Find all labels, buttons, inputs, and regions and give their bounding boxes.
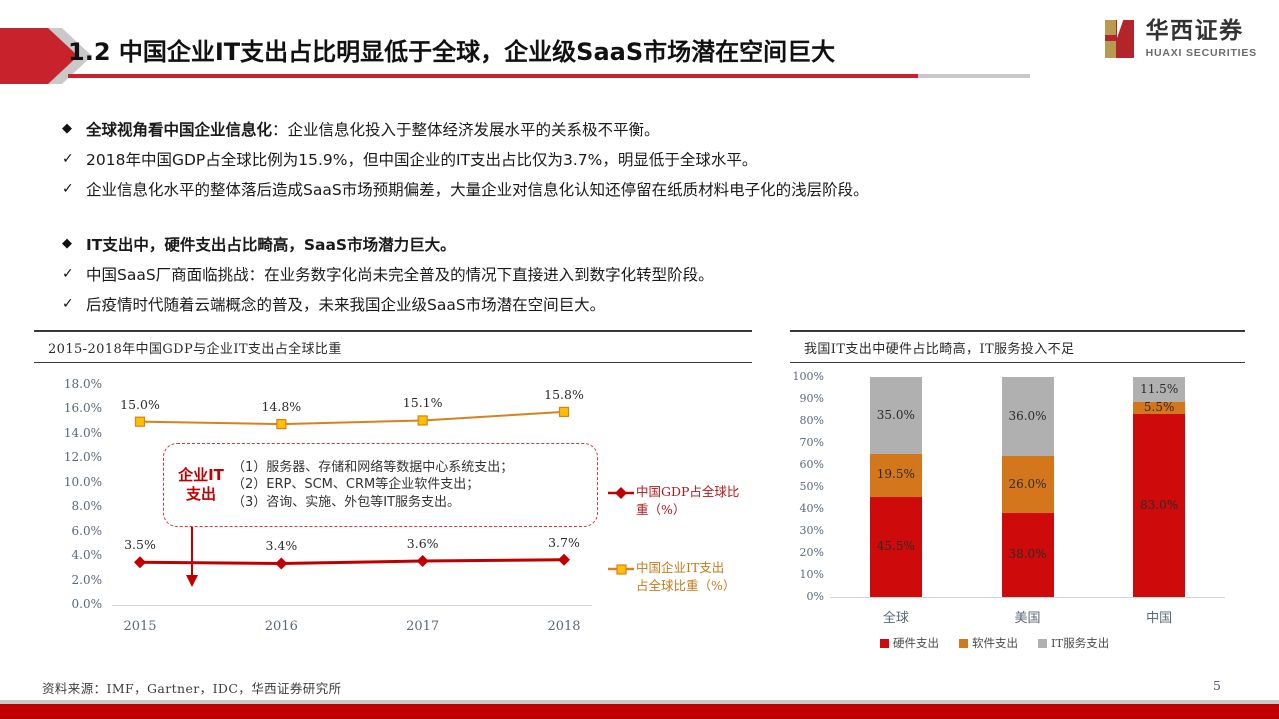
title-underline xyxy=(68,74,1030,78)
callout-arrow-icon xyxy=(180,527,204,589)
bullet-group-1-heading-strong: 全球视角看中国企业信息化 xyxy=(86,121,272,139)
y-axis-tick-label: 40% xyxy=(790,502,824,515)
bar-segment-label: 83.0% xyxy=(1124,498,1194,512)
data-point-marker xyxy=(136,417,145,426)
bullet-text: 后疫情时代随着云端概念的普及，未来我国企业级SaaS市场潜在空间巨大。 xyxy=(86,293,605,317)
check-icon: ✓ xyxy=(62,263,86,286)
legend-label: 中国GDP占全球比重（%） xyxy=(636,483,746,519)
check-icon: ✓ xyxy=(62,178,86,201)
bar-segment-label: 11.5% xyxy=(1124,382,1194,396)
list-item: ✓ 企业信息化水平的整体落后造成SaaS市场预期偏差，大量企业对信息化认知还停留… xyxy=(62,178,869,202)
data-point-marker xyxy=(418,416,427,425)
bar-chart-legend: 硬件支出软件支出IT服务支出 xyxy=(880,635,1109,651)
legend-entry: IT服务支出 xyxy=(1038,635,1109,651)
data-point-label: 3.4% xyxy=(246,538,316,553)
legend-label: IT服务支出 xyxy=(1051,635,1109,651)
legend-label: 软件支出 xyxy=(972,635,1018,651)
logo-name-cn: 华西证券 xyxy=(1146,20,1257,43)
legend-swatch-icon xyxy=(880,639,889,648)
x-axis-category-label: 美国 xyxy=(988,607,1068,626)
bullet-group-2-heading: ◆ IT支出中，硬件支出占比畸高，SaaS市场潜力巨大。 xyxy=(62,233,714,257)
legend-swatch-icon xyxy=(959,639,968,648)
legend-square-icon xyxy=(608,561,636,577)
x-axis-line xyxy=(830,597,1225,598)
y-axis-tick-label: 20% xyxy=(790,546,824,559)
check-icon: ✓ xyxy=(62,293,86,316)
y-axis-tick-label: 30% xyxy=(790,524,824,537)
y-axis-tick-label: 90% xyxy=(790,392,824,405)
series-line xyxy=(140,412,564,424)
bar-segment-label: 19.5% xyxy=(861,467,931,481)
bullet-group-1: ◆ 全球视角看中国企业信息化：企业信息化投入于整体经济发展水平的关系极不平衡。 … xyxy=(62,118,869,202)
huaxi-logo-mark xyxy=(1103,16,1137,62)
data-point-label: 3.5% xyxy=(105,537,175,552)
callout-line-2: （2）ERP、SCM、CRM等企业软件支出； xyxy=(232,476,513,494)
bar-segment-label: 35.0% xyxy=(861,408,931,422)
y-axis-tick-label: 60% xyxy=(790,458,824,471)
diamond-bullet-icon: ◆ xyxy=(62,118,86,139)
y-axis-tick-label: 50% xyxy=(790,480,824,493)
list-item: ✓ 中国SaaS厂商面临挑战：在业务数字化尚未完全普及的情况下直接进入到数字化转… xyxy=(62,263,714,287)
legend-diamond-icon xyxy=(608,485,636,501)
legend-entry: 中国GDP占全球比重（%） xyxy=(608,483,746,519)
bar-chart-title: 我国IT支出中硬件占比畸高，IT服务投入不足 xyxy=(790,330,1245,363)
data-point-label: 15.1% xyxy=(388,395,458,410)
data-point-marker xyxy=(417,555,429,567)
footer-bar xyxy=(0,704,1279,719)
brand-logo: 华西证券 HUAXI SECURITIES xyxy=(1103,16,1257,62)
bar-segment-label: 26.0% xyxy=(993,477,1063,491)
data-point-label: 3.6% xyxy=(388,536,458,551)
legend-label: 中国企业IT支出占全球比重（%） xyxy=(636,559,746,595)
bar-segment-label: 45.5% xyxy=(861,539,931,553)
y-axis-tick-label: 0% xyxy=(790,590,824,603)
y-axis-tick-label: 70% xyxy=(790,436,824,449)
callout-title-line2: 支出 xyxy=(174,485,228,504)
bullet-text: 2018年中国GDP占全球比例为15.9%，但中国企业的IT支出占比仅为3.7%… xyxy=(86,148,757,172)
check-icon: ✓ xyxy=(62,148,86,171)
y-axis-tick-label: 80% xyxy=(790,414,824,427)
page-number: 5 xyxy=(1213,678,1221,693)
y-axis-tick-label: 100% xyxy=(790,370,824,383)
line-chart-title: 2015-2018年中国GDP与企业IT支出占全球比重 xyxy=(34,330,752,363)
legend-swatch-icon xyxy=(1038,639,1047,648)
logo-name-en: HUAXI SECURITIES xyxy=(1146,48,1257,59)
bar-segment-label: 5.5% xyxy=(1124,400,1194,414)
bullet-group-1-heading-rest: ：企业信息化投入于整体经济发展水平的关系极不平衡。 xyxy=(272,121,660,139)
legend-entry: 硬件支出 xyxy=(880,635,939,651)
callout-box: 企业IT 支出 （1）服务器、存储和网络等数据中心系统支出； （2）ERP、SC… xyxy=(163,443,598,527)
bullet-group-2: ◆ IT支出中，硬件支出占比畸高，SaaS市场潜力巨大。 ✓ 中国SaaS厂商面… xyxy=(62,233,714,317)
data-point-label: 15.0% xyxy=(105,397,175,412)
data-point-marker xyxy=(558,554,570,566)
bar-chart-plot-area: 0%10%20%30%40%50%60%70%80%90%100%45.5%19… xyxy=(790,363,1245,663)
diamond-bullet-icon: ◆ xyxy=(62,233,86,254)
data-point-marker xyxy=(275,557,287,569)
data-point-marker xyxy=(277,420,286,429)
data-point-marker xyxy=(134,556,146,568)
callout-title-line1: 企业IT xyxy=(174,466,228,485)
list-item: ✓ 2018年中国GDP占全球比例为15.9%，但中国企业的IT支出占比仅为3.… xyxy=(62,148,869,172)
legend-entry: 软件支出 xyxy=(959,635,1018,651)
bar-segment-label: 38.0% xyxy=(993,547,1063,561)
page-title: 1.2 中国企业IT支出占比明显低于全球，企业级SaaS市场潜在空间巨大 xyxy=(68,32,835,67)
callout-line-3: （3）咨询、实施、外包等IT服务支出。 xyxy=(232,494,513,512)
data-point-marker xyxy=(560,407,569,416)
bar-chart-panel: 我国IT支出中硬件占比畸高，IT服务投入不足 0%10%20%30%40%50%… xyxy=(790,330,1245,663)
source-note: 资料来源：IMF，Gartner，IDC，华西证券研究所 xyxy=(42,678,342,697)
bar-segment-label: 36.0% xyxy=(993,409,1063,423)
title-underline-accent xyxy=(68,74,918,78)
callout-title: 企业IT 支出 xyxy=(174,466,228,504)
x-axis-category-label: 全球 xyxy=(856,607,936,626)
data-point-label: 15.8% xyxy=(529,387,599,402)
legend-label: 硬件支出 xyxy=(893,635,939,651)
legend-entry: 中国企业IT支出占全球比重（%） xyxy=(608,559,746,595)
bullet-group-2-heading-strong: IT支出中，硬件支出占比畸高，SaaS市场潜力巨大。 xyxy=(86,236,456,254)
callout-line-1: （1）服务器、存储和网络等数据中心系统支出； xyxy=(232,459,513,477)
callout-body: （1）服务器、存储和网络等数据中心系统支出； （2）ERP、SCM、CRM等企业… xyxy=(232,459,513,512)
data-point-label: 3.7% xyxy=(529,535,599,550)
bullet-text: 企业信息化水平的整体落后造成SaaS市场预期偏差，大量企业对信息化认知还停留在纸… xyxy=(86,178,869,202)
data-point-label: 14.8% xyxy=(246,399,316,414)
bullet-text: 中国SaaS厂商面临挑战：在业务数字化尚未完全普及的情况下直接进入到数字化转型阶… xyxy=(86,263,714,287)
bullet-group-1-heading: ◆ 全球视角看中国企业信息化：企业信息化投入于整体经济发展水平的关系极不平衡。 xyxy=(62,118,869,142)
x-axis-category-label: 中国 xyxy=(1119,607,1199,626)
y-axis-tick-label: 10% xyxy=(790,568,824,581)
title-underline-muted xyxy=(918,74,1030,78)
list-item: ✓ 后疫情时代随着云端概念的普及，未来我国企业级SaaS市场潜在空间巨大。 xyxy=(62,293,714,317)
